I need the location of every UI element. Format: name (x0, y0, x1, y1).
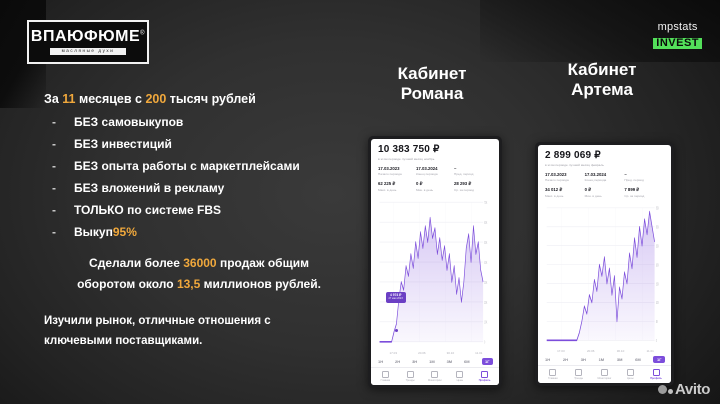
metric-min-value: 0 ₽ (585, 188, 625, 192)
home-icon (549, 369, 556, 376)
nav-item-профиль[interactable]: Профиль (472, 371, 497, 382)
range-option-1М[interactable]: 1М (599, 358, 605, 362)
nav-item-label: Профиль (643, 378, 669, 381)
list-item: -БЕЗ самовыкупов (44, 115, 354, 129)
bullet-text: ТОЛЬКО по системе FBS (74, 203, 221, 217)
metric-avg-label: Ср. за период (624, 195, 664, 198)
promo-slide: ВПАЮФЮМЕ® масляные духи mpstats INVEST З… (0, 0, 720, 404)
compass-icon (575, 369, 582, 376)
metric-max: 62 225 ₽ Макс. в день (378, 182, 416, 191)
avito-dot-large (658, 385, 667, 394)
nav-item-мониторинг[interactable]: Мониторинг (423, 371, 448, 382)
turnover-text-2: миллионов рублей. (200, 277, 321, 291)
range-selector-artem[interactable]: 1Н2Н3Н1М3М6М1Г (538, 353, 671, 365)
bullet-text: БЕЗ самовыкупов (74, 115, 183, 129)
svg-text:30K: 30K (656, 225, 660, 230)
app-screen-artem: 2 899 069 ₽ в этом периоде лучший месяц … (538, 145, 671, 383)
lead-highlight-months: 11 (62, 92, 75, 106)
nav-item-label: Тренды (398, 380, 423, 383)
period-row: 17.03.2023 Начало периода 17.03.2024 Кон… (545, 173, 664, 182)
period-start-label: Начало периода (378, 173, 416, 176)
metrics-row: 34 012 ₽ Макс. в день 0 ₽ Мин. в день 7 … (545, 188, 664, 197)
metric-max-label: Макс. в день (545, 195, 585, 198)
period-prev-value: – (454, 167, 492, 171)
range-option-3Н[interactable]: 3Н (412, 360, 417, 364)
phone-mockup-artem: 2 899 069 ₽ в этом периоде лучший месяц … (535, 142, 674, 386)
svg-text:30K: 30K (484, 280, 487, 285)
metric-min: 0 ₽ Мин. в день (585, 188, 625, 197)
lead-line: За 11 месяцев с 200 тысяч рублей (44, 92, 354, 106)
svg-text:20K: 20K (656, 262, 660, 267)
sales-summary: Сделали более 36000 продаж общим оборото… (44, 253, 354, 295)
metric-max: 34 012 ₽ Макс. в день (545, 188, 585, 197)
range-option-2Н[interactable]: 2Н (395, 360, 400, 364)
range-option-1Н[interactable]: 1Н (378, 360, 383, 364)
period-start-value: 17.03.2023 (545, 173, 585, 177)
closing-note: Изучили рынок, отличные отношения с ключ… (44, 311, 354, 351)
period-prev: – Пред. период (624, 173, 664, 182)
closing-line-2: ключевыми поставщиками. (44, 331, 354, 351)
nav-item-label: Цены (617, 378, 643, 381)
brand-logo-subtitle: масляные духи (50, 48, 127, 56)
phone-mockup-roman: 10 383 750 ₽ в этом периоде лучший месяц… (368, 136, 502, 388)
range-option-3М[interactable]: 3М (617, 358, 623, 362)
sales-text-2: продаж общим (217, 256, 309, 270)
period-end: 17.03.2024 Конец периода (416, 167, 454, 176)
revenue-chart-artem[interactable]: 35K30K25K20K15K10K5K0 (543, 202, 667, 349)
list-item: -БЕЗ вложений в рекламу (44, 181, 354, 195)
compass-icon (407, 371, 414, 378)
stats-header-artem: 2 899 069 ₽ в этом периоде лучший месяц … (538, 145, 671, 198)
period-end-value: 17.03.2024 (585, 173, 625, 177)
nav-item-label: Главная (373, 380, 398, 383)
lead-part-2: месяцев с (75, 92, 145, 106)
bullet-dash: - (44, 225, 74, 239)
brand-logo: ВПАЮФЮМЕ® масляные духи (27, 20, 149, 64)
avito-wordmark: Avito (675, 381, 710, 398)
metrics-row: 62 225 ₽ Макс. в день 0 ₽ Мин. в день 28… (378, 182, 492, 191)
bullet-dash: - (44, 115, 74, 129)
bullet-dash: - (44, 181, 74, 195)
range-option-3Н[interactable]: 3Н (581, 358, 586, 362)
range-option-2Н[interactable]: 2Н (563, 358, 568, 362)
nav-item-label: Мониторинг (423, 380, 448, 383)
card-title-roman-line2: Романа (368, 84, 496, 104)
avito-watermark: Avito (658, 381, 710, 398)
revenue-chart-roman[interactable]: 70K60K50K40K30K20K10K04 974 ₽27 мая 2023 (376, 196, 495, 351)
period-start-value: 17.03.2023 (378, 167, 416, 171)
metric-avg-label: Ср. за период (454, 189, 492, 192)
user-icon (653, 369, 660, 376)
partner-logo: mpstats INVEST (653, 22, 702, 50)
period-end: 17.03.2024 Конец периода (585, 173, 625, 182)
copy-block: За 11 месяцев с 200 тысяч рублей -БЕЗ са… (44, 92, 354, 351)
buyout-percent: 95% (113, 225, 137, 239)
calendar-icon (431, 371, 438, 378)
nav-item-цены[interactable]: Цены (447, 371, 472, 382)
list-item-buyout: -Выкуп 95% (44, 225, 354, 239)
svg-text:60K: 60K (484, 220, 487, 225)
period-prev-label: Пред. период (454, 173, 492, 176)
nav-item-label: Мониторинг (592, 378, 618, 381)
range-option-1Г[interactable]: 1Г (482, 358, 494, 365)
period-prev: – Пред. период (454, 167, 492, 176)
list-item: -ТОЛЬКО по системе FBS (44, 203, 354, 217)
period-prev-label: Пред. период (624, 179, 664, 182)
svg-text:25K: 25K (656, 243, 660, 248)
partner-badge: INVEST (653, 38, 702, 50)
card-title-roman: Кабинет Романа (368, 64, 496, 104)
nav-item-цены[interactable]: Цены (617, 369, 643, 380)
sales-summary-line-1: Сделали более 36000 продаж общим (44, 253, 354, 274)
tooltip-date: 27 мая 2023 (389, 298, 403, 301)
benefits-list: -БЕЗ самовыкупов -БЕЗ инвестиций -БЕЗ оп… (44, 115, 354, 239)
nav-item-тренды[interactable]: Тренды (398, 371, 423, 382)
nav-item-label: Профиль (472, 380, 497, 383)
period-prev-value: – (624, 173, 664, 177)
card-title-artem: Кабинет Артема (538, 60, 666, 100)
nav-item-тренды[interactable]: Тренды (566, 369, 592, 380)
svg-text:70K: 70K (484, 200, 487, 205)
bullet-dash: - (44, 137, 74, 151)
svg-text:50K: 50K (484, 240, 487, 245)
brand-logo-word: ВПАЮФЮМЕ® (31, 29, 145, 45)
range-option-1Н[interactable]: 1Н (545, 358, 550, 362)
metric-max-value: 34 012 ₽ (545, 188, 585, 192)
lead-part-3: тысяч рублей (166, 92, 256, 106)
svg-text:10K: 10K (656, 300, 660, 305)
card-title-artem-line2: Артема (538, 80, 666, 100)
metric-avg: 7 899 ₽ Ср. за период (624, 188, 664, 197)
stats-header-roman: 10 383 750 ₽ в этом периоде лучший месяц… (371, 139, 499, 192)
metric-min: 0 ₽ Мин. в день (416, 182, 454, 191)
bullet-text: БЕЗ опыта работы с маркетплейсами (74, 159, 300, 173)
range-option-6М[interactable]: 6М (464, 360, 470, 364)
nav-item-главная[interactable]: Главная (540, 369, 566, 380)
nav-item-главная[interactable]: Главная (373, 371, 398, 382)
svg-text:10K: 10K (484, 320, 487, 325)
list-item: -БЕЗ инвестиций (44, 137, 354, 151)
app-screen-roman: 10 383 750 ₽ в этом периоде лучший месяц… (371, 139, 499, 385)
svg-text:0: 0 (656, 338, 657, 343)
registered-mark-icon: ® (140, 30, 145, 36)
range-option-6М[interactable]: 6М (635, 358, 641, 362)
svg-text:40K: 40K (484, 260, 487, 265)
period-end-value: 17.03.2024 (416, 167, 454, 171)
range-option-3М[interactable]: 3М (447, 360, 453, 364)
bottom-nav-artem[interactable]: ГлавнаяТрендыМониторингЦеныПрофиль (538, 365, 671, 383)
bullet-dash: - (44, 159, 74, 173)
metric-min-label: Мин. в день (585, 195, 625, 198)
brand-logo-text: ВПАЮФЮМЕ (31, 28, 140, 45)
calendar-icon (601, 369, 608, 376)
metric-max-label: Макс. в день (378, 189, 416, 192)
clock-icon (456, 371, 463, 378)
clock-icon (627, 369, 634, 376)
bullet-text: Выкуп (74, 225, 113, 239)
period-row: 17.03.2023 Начало периода 17.03.2024 Кон… (378, 167, 492, 176)
total-revenue: 10 383 750 ₽ (378, 145, 492, 155)
period-start: 17.03.2023 Начало периода (378, 167, 416, 176)
chart-tooltip: 4 974 ₽27 мая 2023 (386, 292, 406, 303)
turnover-amount: 13,5 (177, 277, 200, 291)
metric-min-value: 0 ₽ (416, 182, 454, 186)
avito-dot-small (668, 389, 673, 394)
period-end-label: Конец периода (416, 173, 454, 176)
lead-highlight-amount: 200 (145, 92, 166, 106)
svg-text:5K: 5K (656, 319, 659, 324)
nav-item-мониторинг[interactable]: Мониторинг (592, 369, 618, 380)
metric-avg-value: 28 293 ₽ (454, 182, 492, 186)
best-month-note: в этом периоде лучший месяц февраль (545, 164, 664, 167)
best-month-note: в этом периоде лучший месяц ноябрь (378, 158, 492, 161)
bullet-text: БЕЗ инвестиций (74, 137, 172, 151)
avito-dots-icon (658, 385, 673, 394)
svg-text:35K: 35K (656, 206, 660, 211)
card-title-roman-line1: Кабинет (368, 64, 496, 84)
metric-min-label: Мин. в день (416, 189, 454, 192)
total-revenue: 2 899 069 ₽ (545, 151, 664, 161)
list-item: -БЕЗ опыта работы с маркетплейсами (44, 159, 354, 173)
range-selector-roman[interactable]: 1Н2Н3Н1М3М6М1Г (371, 355, 499, 367)
period-end-label: Конец периода (585, 179, 625, 182)
svg-text:15K: 15K (656, 281, 660, 286)
metric-avg-value: 7 899 ₽ (624, 188, 664, 192)
nav-item-label: Цены (447, 380, 472, 383)
svg-text:20K: 20K (484, 300, 487, 305)
bullet-dash: - (44, 203, 74, 217)
nav-item-профиль[interactable]: Профиль (643, 369, 669, 380)
sales-count: 36000 (183, 256, 216, 270)
nav-item-label: Тренды (566, 378, 592, 381)
period-start-label: Начало периода (545, 179, 585, 182)
range-option-1Г[interactable]: 1Г (653, 356, 665, 363)
sales-summary-line-2: оборотом около 13,5 миллионов рублей. (44, 274, 354, 295)
user-icon (481, 371, 488, 378)
card-title-artem-line1: Кабинет (538, 60, 666, 80)
lead-part-1: За (44, 92, 62, 106)
bullet-text: БЕЗ вложений в рекламу (74, 181, 224, 195)
closing-line-1: Изучили рынок, отличные отношения с (44, 311, 354, 331)
metric-avg: 28 293 ₽ Ср. за период (454, 182, 492, 191)
nav-item-label: Главная (540, 378, 566, 381)
turnover-text-1: оборотом около (77, 277, 177, 291)
sales-text-1: Сделали более (89, 256, 183, 270)
period-start: 17.03.2023 Начало периода (545, 173, 585, 182)
metric-max-value: 62 225 ₽ (378, 182, 416, 186)
home-icon (382, 371, 389, 378)
bottom-nav-roman[interactable]: ГлавнаяТрендыМониторингЦеныПрофиль (371, 367, 499, 385)
range-option-1М[interactable]: 1М (429, 360, 435, 364)
partner-name: mpstats (653, 22, 702, 34)
svg-text:0: 0 (484, 340, 485, 345)
